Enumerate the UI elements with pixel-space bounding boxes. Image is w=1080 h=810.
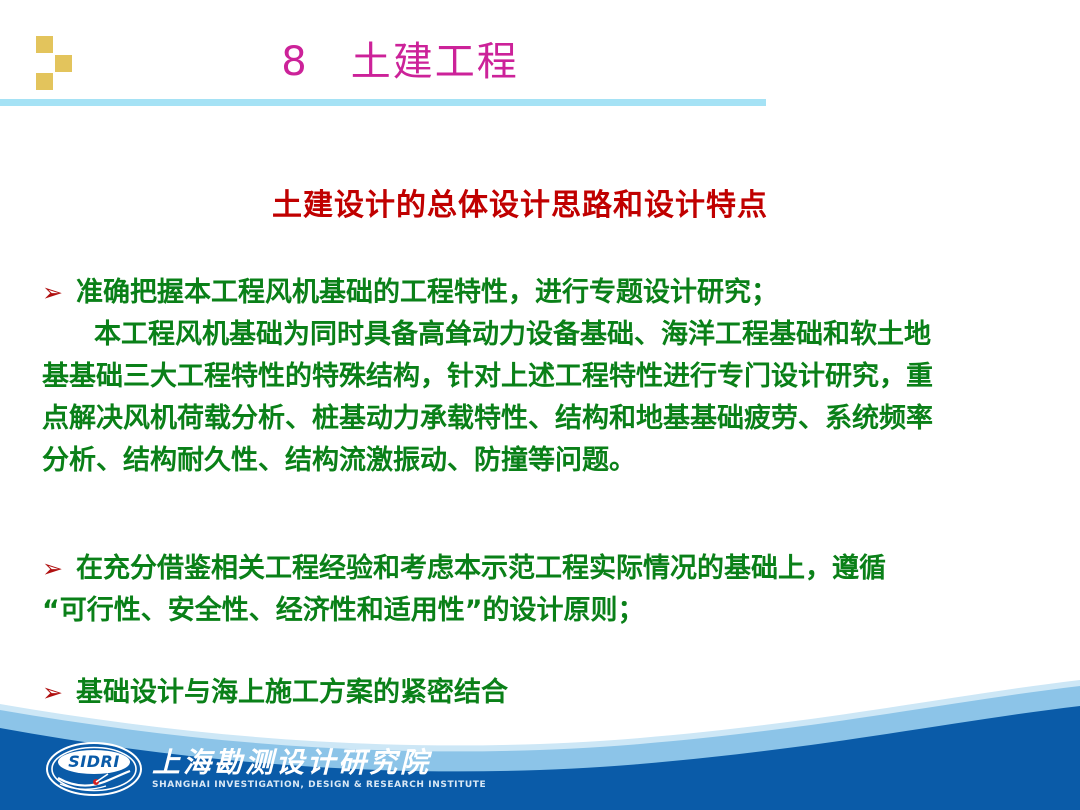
sidri-badge-svg: SIDRI (44, 740, 144, 798)
footer-company-text: 上海勘测设计研究院 SHANGHAI INVESTIGATION, DESIGN… (152, 748, 486, 789)
sidri-badge-icon: SIDRI (44, 740, 144, 798)
paragraph-line-1-3: 点解决风机荷载分析、桩基动力承载特性、结构和地基基础疲劳、系统频率 (42, 398, 1042, 440)
paragraph-line-1-2: 基基础三大工程特性的特殊结构，针对上述工程特性进行专门设计研究，重 (42, 356, 1042, 398)
company-name-cn: 上海勘测设计研究院 (152, 748, 486, 777)
title-underline-rule (0, 99, 766, 106)
bullet-text-1: 准确把握本工程风机基础的工程特性，进行专题设计研究； (76, 272, 778, 314)
bullet-item-3: ➢基础设计与海上施工方案的紧密结合 (42, 672, 1042, 714)
bullet-item-1: ➢准确把握本工程风机基础的工程特性，进行专题设计研究； (42, 272, 1042, 314)
bullet-item-2: ➢在充分借鉴相关工程经验和考虑本示范工程实际情况的基础上，遵循 (42, 548, 1042, 590)
bullet-arrow-icon: ➢ (42, 272, 76, 314)
content-block-2: ➢在充分借鉴相关工程经验和考虑本示范工程实际情况的基础上，遵循 “可行性、安全性… (42, 548, 1042, 632)
paragraph-line-2-1: “可行性、安全性、经济性和适用性”的设计原则； (42, 590, 1042, 632)
content-block-1: ➢准确把握本工程风机基础的工程特性，进行专题设计研究； 本工程风机基础为同时具备… (42, 272, 1042, 482)
content-block-3: ➢基础设计与海上施工方案的紧密结合 (42, 672, 1042, 714)
slide-header: 8 土建工程 (0, 0, 1080, 108)
svg-text:SIDRI: SIDRI (68, 752, 120, 771)
presentation-slide: 8 土建工程 土建设计的总体设计思路和设计特点 ➢准确把握本工程风机基础的工程特… (0, 0, 1080, 810)
slide-title: 8 土建工程 (0, 40, 800, 84)
bullet-text-3: 基础设计与海上施工方案的紧密结合 (76, 672, 508, 714)
paragraph-line-1-1: 本工程风机基础为同时具备高耸动力设备基础、海洋工程基础和软土地 (42, 314, 1042, 356)
bullet-arrow-icon: ➢ (42, 548, 76, 590)
company-name-en: SHANGHAI INVESTIGATION, DESIGN & RESEARC… (152, 780, 486, 790)
section-heading: 土建设计的总体设计思路和设计特点 (0, 180, 1040, 224)
footer-logo: SIDRI 上海勘测设计研究院 SHANGHAI INVESTIGATION, … (44, 738, 486, 800)
slide-body: 土建设计的总体设计思路和设计特点 ➢准确把握本工程风机基础的工程特性，进行专题设… (0, 108, 1080, 810)
bullet-arrow-icon: ➢ (42, 672, 76, 714)
paragraph-line-1-4: 分析、结构耐久性、结构流激振动、防撞等问题。 (42, 440, 1042, 482)
bullet-text-2: 在充分借鉴相关工程经验和考虑本示范工程实际情况的基础上，遵循 (76, 548, 886, 590)
